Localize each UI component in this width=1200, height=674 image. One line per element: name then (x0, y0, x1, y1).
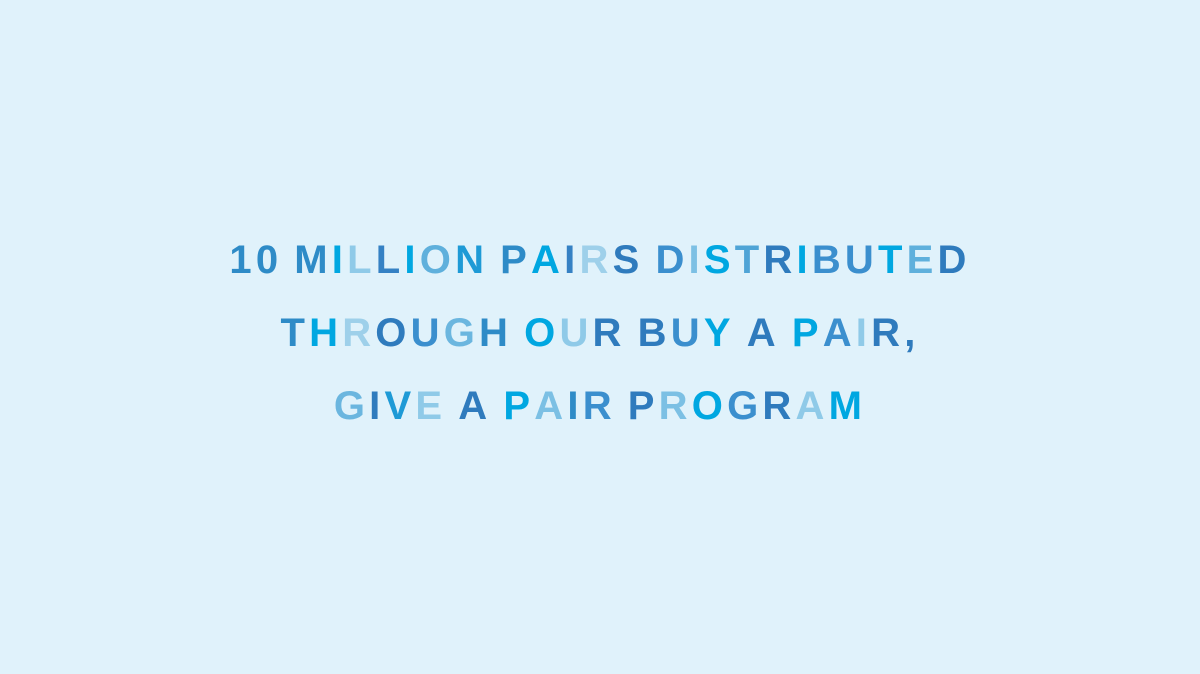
headline-letter: G (727, 370, 762, 443)
headline-letter: A (796, 370, 829, 443)
headline-letter: A (823, 297, 856, 370)
headline-letter: R (659, 370, 692, 443)
headline-letter: N (455, 224, 488, 297)
headline-line-2: THROUGH OUR BUY A PAIR, (50, 297, 1150, 370)
headline-letter: H (479, 297, 512, 370)
headline-letter: U (411, 297, 444, 370)
headline-letter: I (856, 297, 871, 370)
headline-letter: O (524, 297, 559, 370)
headline-letter: P (503, 370, 534, 443)
headline-letter: R (762, 370, 795, 443)
headline-letter: R (583, 370, 616, 443)
headline-space (616, 370, 628, 443)
headline-letter: T (280, 297, 309, 370)
headline-letter: I (404, 224, 419, 297)
headline-letter: 1 (229, 224, 255, 297)
headline-space (643, 224, 655, 297)
headline-letter: G (334, 370, 369, 443)
headline-space (512, 297, 524, 370)
headline-space (780, 297, 792, 370)
headline-letter: O (420, 224, 455, 297)
headline-letter: A (534, 370, 567, 443)
headline-letter: O (692, 370, 727, 443)
headline-letter: 0 (256, 224, 282, 297)
headline-letter: M (294, 224, 332, 297)
headline-letter: U (845, 224, 878, 297)
headline-space (626, 297, 638, 370)
headline-letter: S (613, 224, 644, 297)
headline-letter: S (704, 224, 735, 297)
headline-letter: A (531, 224, 564, 297)
headline-letter: P (628, 370, 659, 443)
headline-space (282, 224, 294, 297)
headline-letter: A (747, 297, 780, 370)
headline-letter: T (878, 224, 907, 297)
headline-letter: L (376, 224, 405, 297)
headline-letter: I (332, 224, 347, 297)
headline-letter: D (938, 224, 971, 297)
headline-line-1: 10 MILLION PAIRS DISTRIBUTED (50, 224, 1150, 297)
headline-letter: I (564, 224, 579, 297)
headline-letter: G (444, 297, 479, 370)
headline-letter: Y (704, 297, 735, 370)
headline-letter: L (347, 224, 376, 297)
headline-letter: I (369, 370, 384, 443)
headline-letter: B (638, 297, 671, 370)
headline-letter: E (907, 224, 938, 297)
banner-stage: 10 MILLION PAIRS DISTRIBUTED THROUGH OUR… (0, 0, 1200, 674)
headline-letter: H (309, 297, 342, 370)
headline-letter: R (593, 297, 626, 370)
headline-letter: M (829, 370, 867, 443)
headline-space (491, 370, 503, 443)
headline-letter: B (812, 224, 845, 297)
headline-space (735, 297, 747, 370)
headline-letter: P (792, 297, 823, 370)
headline-letter: U (671, 297, 704, 370)
headline-letter: O (375, 297, 410, 370)
headline-letter: R (763, 224, 796, 297)
headline-space (488, 224, 500, 297)
headline-letter: R (871, 297, 904, 370)
headline-letter: I (797, 224, 812, 297)
headline-line-3: GIVE A PAIR PROGRAM (50, 370, 1150, 443)
headline-letter: D (655, 224, 688, 297)
headline-letter: R (579, 224, 612, 297)
headline-letter: U (559, 297, 592, 370)
headline-space (446, 370, 458, 443)
headline-letter: I (689, 224, 704, 297)
headline-letter: , (904, 297, 919, 370)
headline-letter: A (458, 370, 491, 443)
headline-letter: I (567, 370, 582, 443)
headline-letter: E (415, 370, 446, 443)
headline-letter: V (385, 370, 416, 443)
headline-letter: P (500, 224, 531, 297)
headline-block: 10 MILLION PAIRS DISTRIBUTED THROUGH OUR… (50, 224, 1150, 443)
headline-letter: R (342, 297, 375, 370)
headline-letter: T (735, 224, 764, 297)
